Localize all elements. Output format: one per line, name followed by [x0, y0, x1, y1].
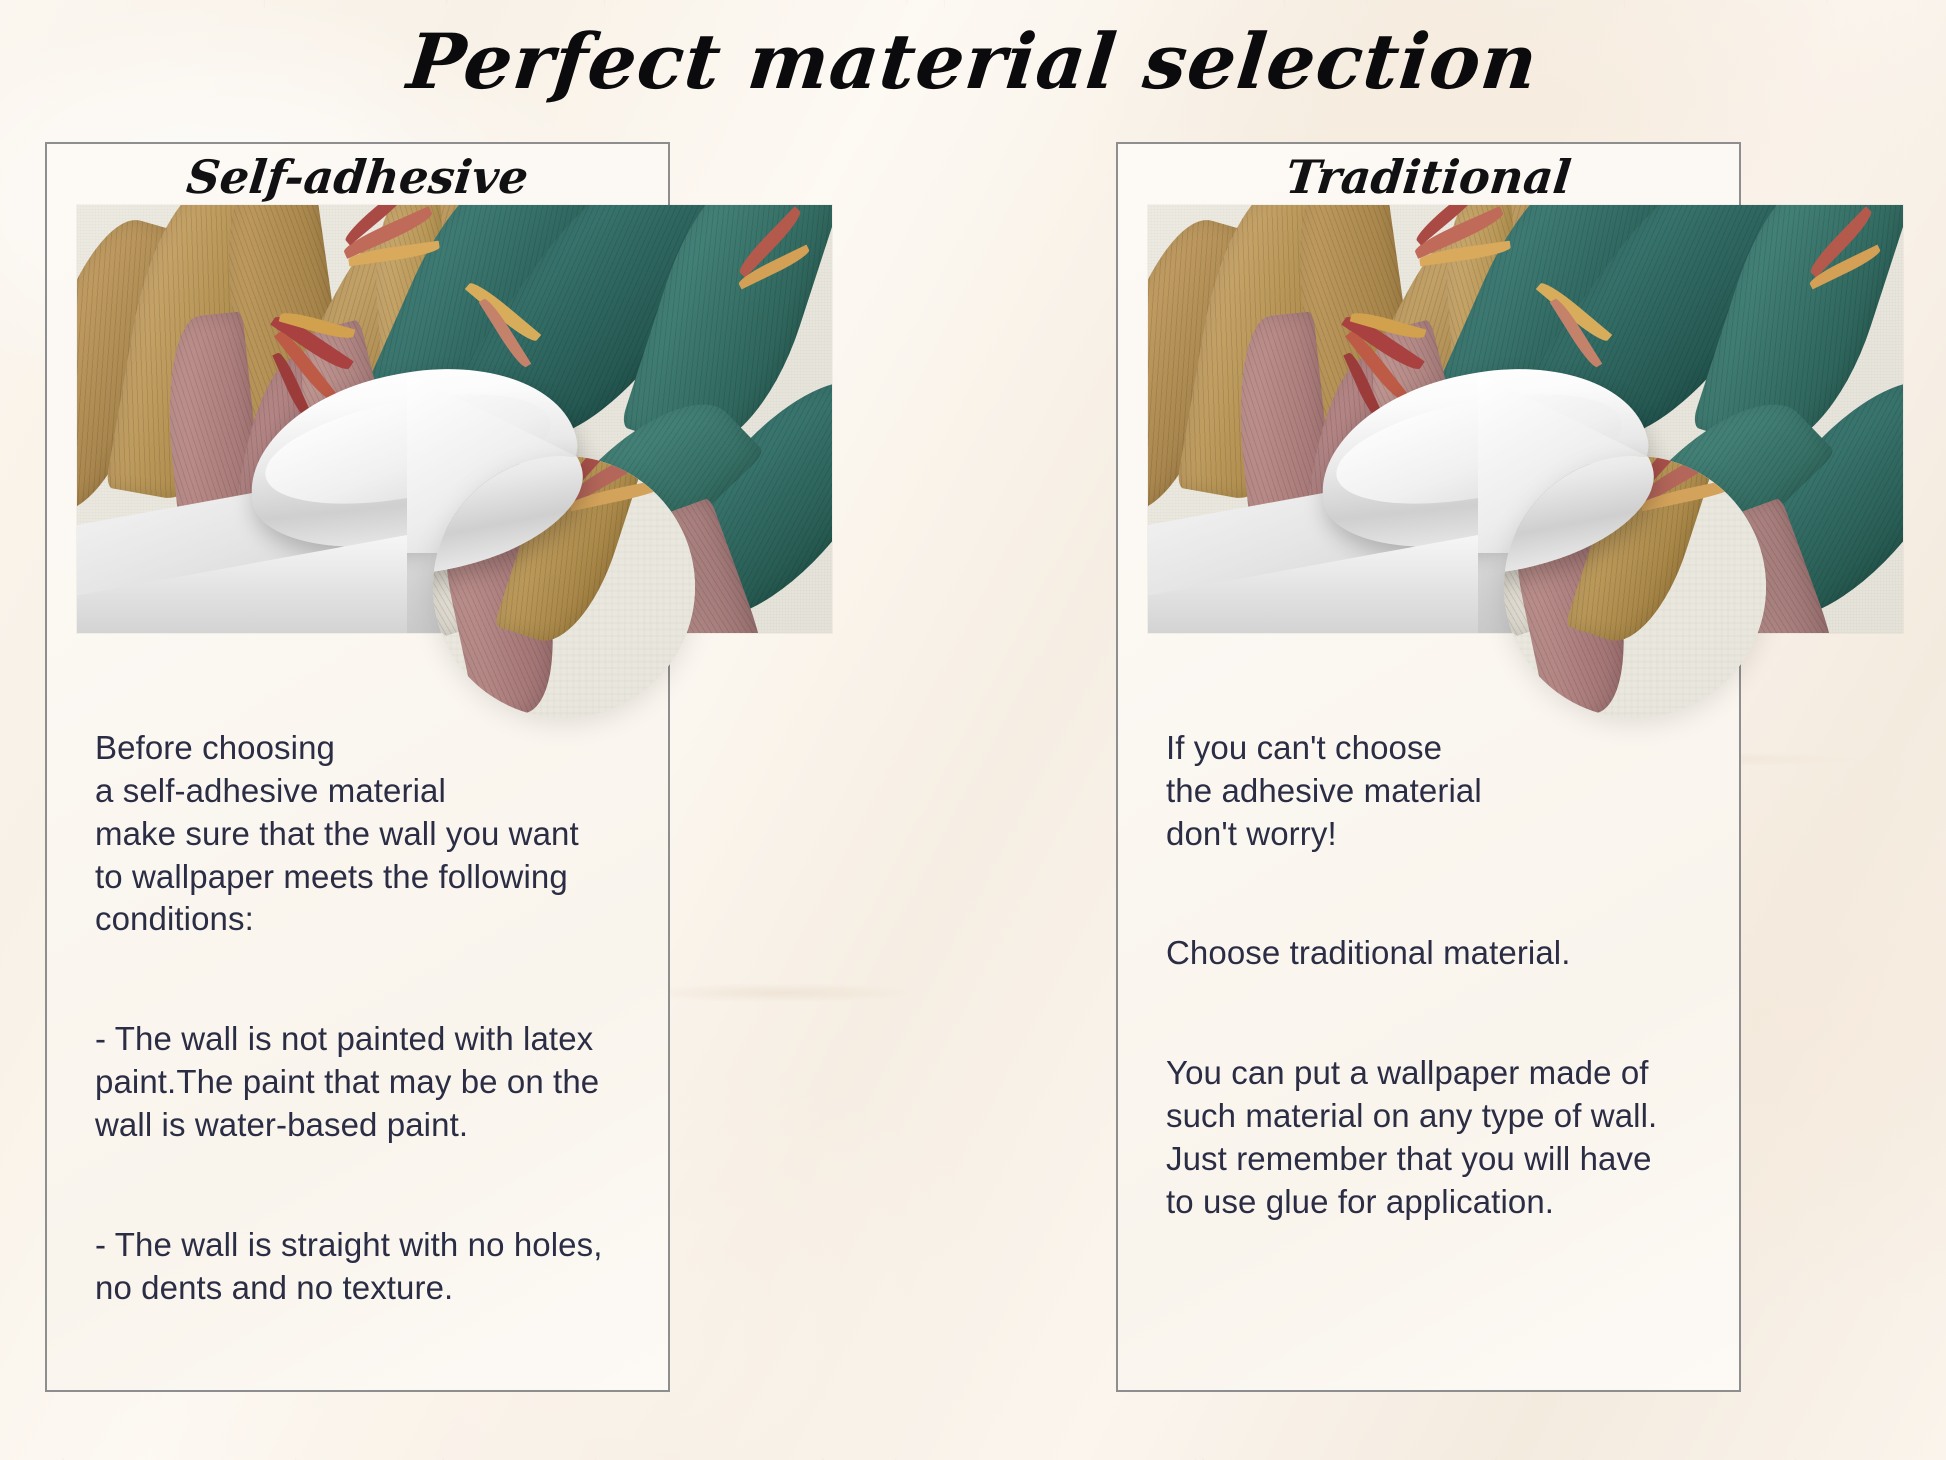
panel-heading-traditional: Traditional [1115, 150, 1742, 204]
paragraph: You can put a wallpaper made of such mat… [1166, 1052, 1709, 1224]
panel-body-traditional: If you can't choose the adhesive materia… [1166, 684, 1709, 1267]
panel-body-self-adhesive: Before choosing a self-adhesive material… [95, 684, 638, 1352]
magnified-detail-circle-self-adhesive [433, 456, 695, 718]
paragraph: If you can't choose the adhesive materia… [1166, 727, 1709, 856]
magnified-detail-circle-traditional [1504, 456, 1766, 718]
paragraph: Choose traditional material. [1166, 932, 1709, 975]
paragraph: - The wall is straight with no holes, no… [95, 1224, 638, 1310]
panel-card-traditional: Traditional [1116, 142, 1741, 1392]
panel-heading-self-adhesive: Self-adhesive [44, 150, 671, 204]
page-title: Perfect material selection [0, 6, 1946, 116]
panel-card-self-adhesive: Self-adhesive [45, 142, 670, 1392]
paragraph: Before choosing a self-adhesive material… [95, 727, 638, 941]
paragraph: - The wall is not painted with latex pai… [95, 1018, 638, 1147]
